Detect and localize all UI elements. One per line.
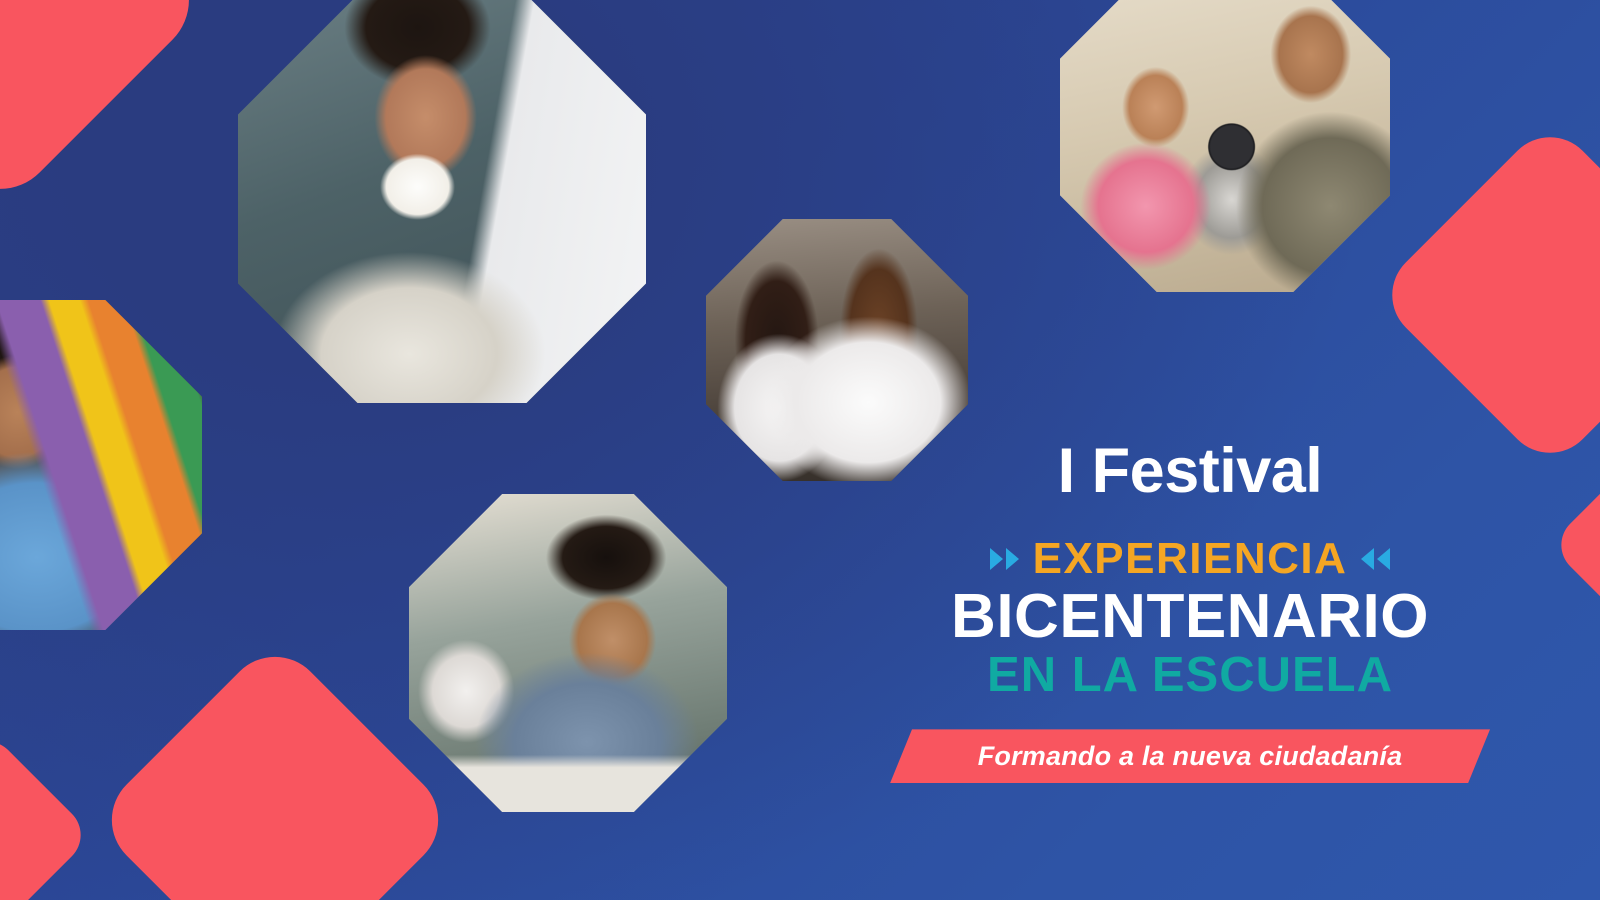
double-arrow-left-icon [1361, 548, 1390, 570]
photo-magnifying-glass-group [992, 0, 1459, 360]
photo-girl-with-mask [154, 0, 731, 487]
escuela-text: EN LA ESCUELA [880, 649, 1500, 703]
experiencia-row: EXPERIENCIA [880, 537, 1500, 581]
festival-title: I Festival [880, 440, 1500, 503]
tagline-text: Formando a la nueva ciudadanía [978, 741, 1403, 772]
photo-boy-with-books-image [0, 300, 202, 630]
red-diamond-far-left [0, 729, 93, 900]
triangle-right-icon [1006, 548, 1019, 570]
triangle-right-icon [990, 548, 1003, 570]
red-diamond-right [1549, 439, 1600, 651]
photo-student-writing-image [409, 494, 727, 812]
photo-girl-with-mask-image [238, 0, 646, 403]
photo-boy-with-books [0, 232, 270, 699]
bicentenario-text: BICENTENARIO [880, 585, 1500, 649]
photo-magnifying-glass-group-image [1060, 0, 1390, 292]
triangle-left-icon [1377, 548, 1390, 570]
double-arrow-right-icon [990, 548, 1019, 570]
tagline-banner: Formando a la nueva ciudadanía [890, 729, 1490, 783]
experiencia-text: EXPERIENCIA [1033, 537, 1348, 581]
headline-block: I Festival EXPERIENCIA BICENTENARIO EN L… [880, 440, 1500, 783]
poster-canvas: I Festival EXPERIENCIA BICENTENARIO EN L… [0, 0, 1600, 900]
triangle-left-icon [1361, 548, 1374, 570]
